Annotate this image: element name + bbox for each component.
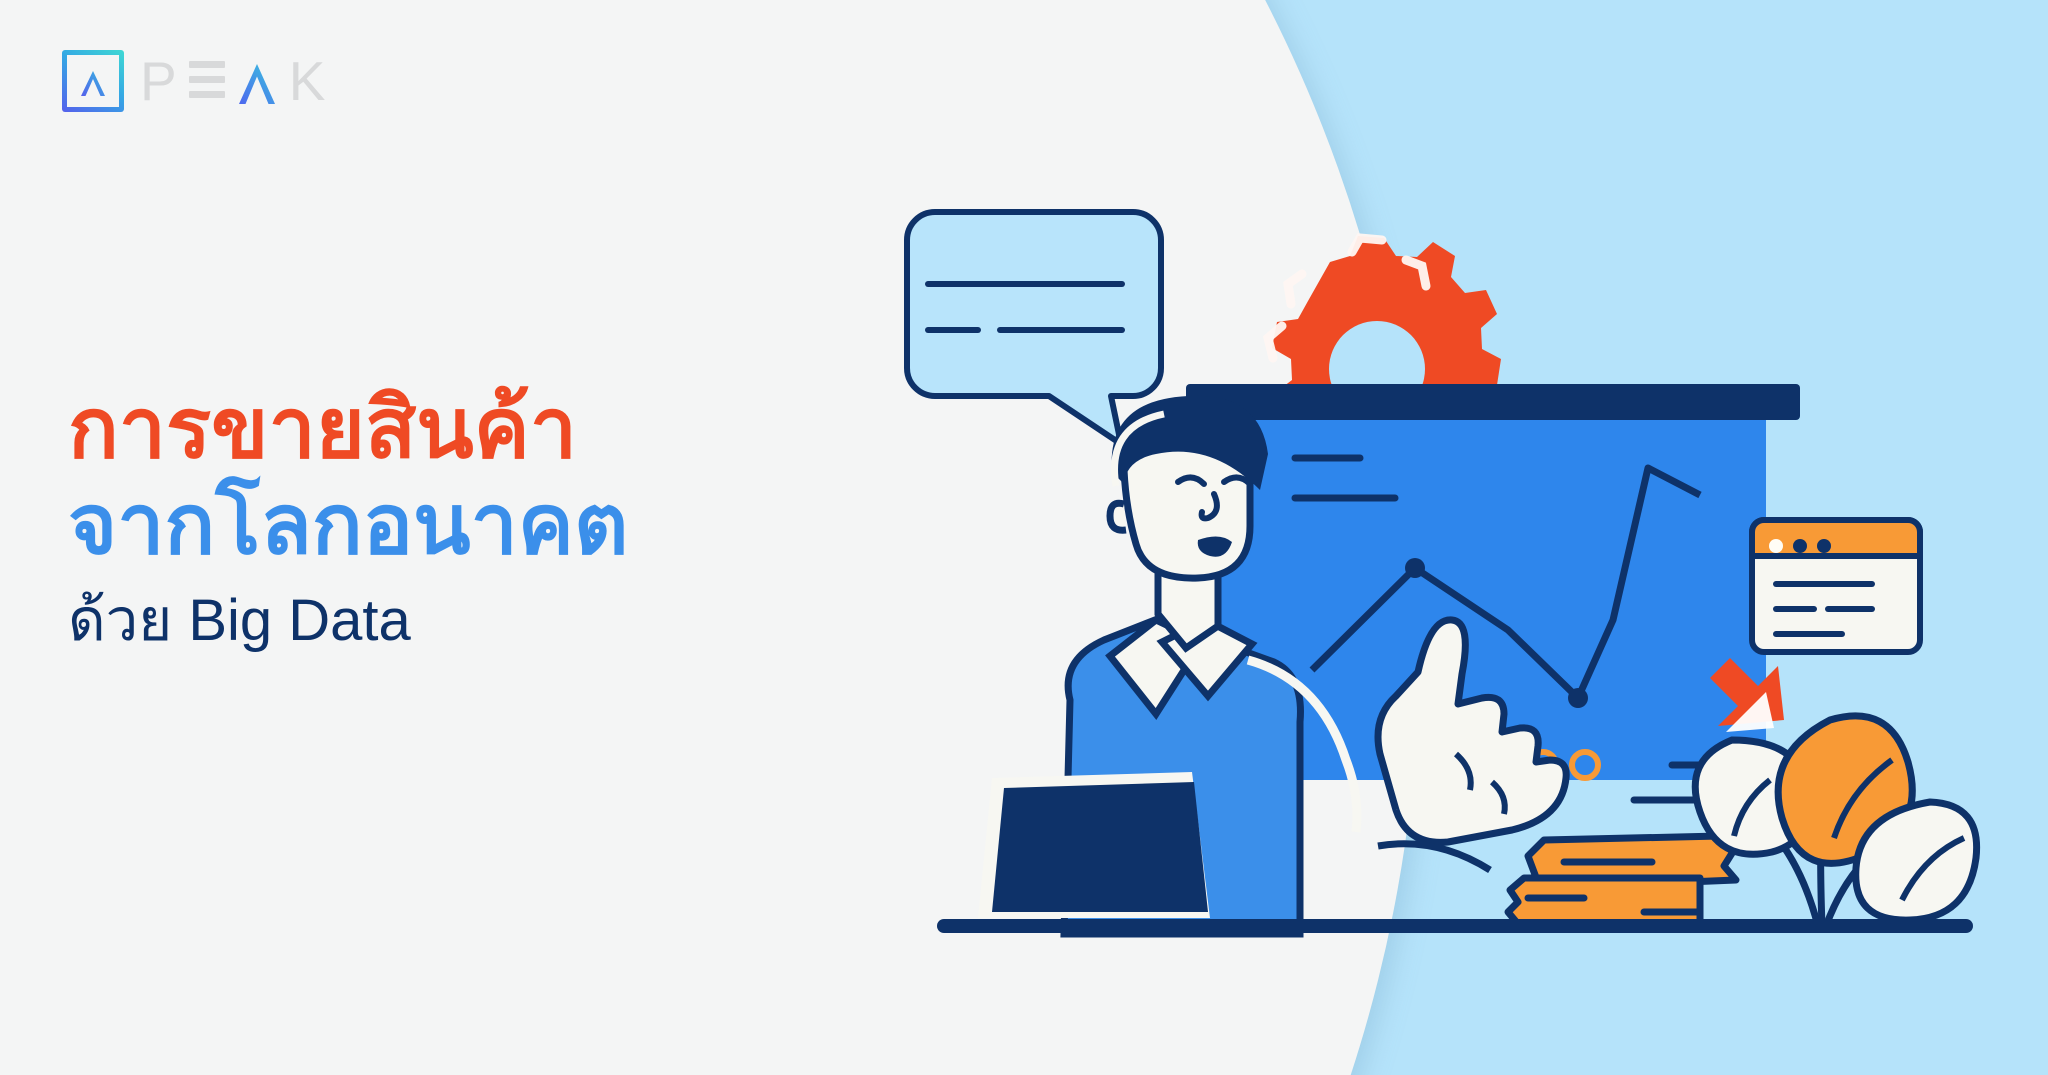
- browser-dot-1: [1769, 539, 1783, 553]
- laptop-screen: [992, 782, 1208, 912]
- presenter-cuff: [1378, 844, 1490, 870]
- illustration-svg: [0, 0, 2048, 1075]
- coin-stack: [1508, 836, 1736, 924]
- banner-canvas: P K การขายสินค้า จากโลกอนาคต ด้วย Big Da…: [0, 0, 2048, 1075]
- speech-bubble: [907, 212, 1161, 444]
- browser-dot-3: [1817, 539, 1831, 553]
- laptop: [978, 772, 1210, 918]
- browser-window: [1752, 520, 1920, 652]
- chart-marker-1: [1405, 558, 1425, 578]
- illustration: [0, 0, 2048, 1075]
- presenter-ear: [1110, 503, 1126, 530]
- browser-dot-2: [1793, 539, 1807, 553]
- chart-marker-2: [1568, 688, 1588, 708]
- plant: [1695, 716, 1976, 926]
- board-top-bar: [1186, 384, 1800, 420]
